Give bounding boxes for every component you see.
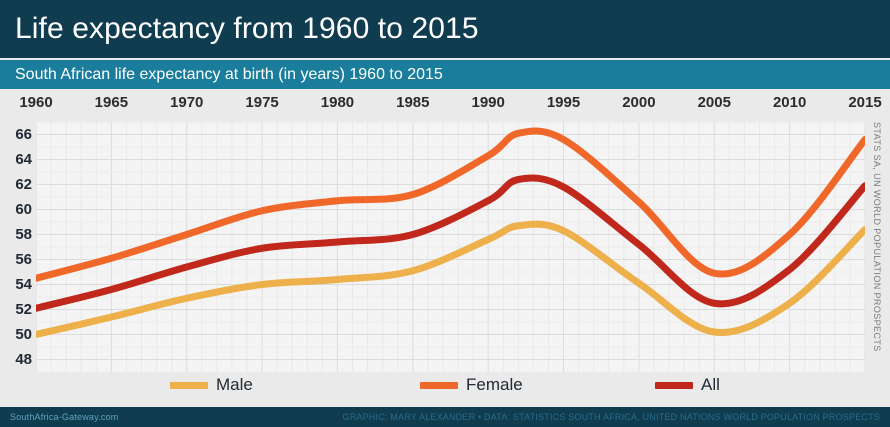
footer-credit: GRAPHIC: MARY ALEXANDER • DATA: STATISTI…: [343, 412, 881, 423]
legend-item-male[interactable]: Male: [170, 375, 253, 395]
x-tick-label: 2005: [698, 93, 731, 113]
chart-legend: MaleFemaleAll: [0, 375, 890, 405]
x-tick-label: 2015: [848, 93, 881, 113]
y-axis-labels: 48505254565860626466: [0, 89, 36, 405]
legend-swatch-male: [170, 382, 208, 389]
footer-site-link[interactable]: SouthAfrica-Gateway.com: [10, 412, 118, 423]
legend-label: All: [701, 375, 720, 395]
y-tick-label: 62: [15, 177, 32, 193]
source-note-text: STATS SA, UN WORLD POPULATION PROSPECTS: [872, 122, 882, 352]
x-tick-label: 1970: [170, 93, 203, 113]
x-tick-label: 1995: [547, 93, 580, 113]
x-tick-label: 2010: [773, 93, 806, 113]
legend-swatch-female: [420, 382, 458, 389]
y-tick-label: 64: [15, 152, 32, 168]
legend-swatch-all: [655, 382, 693, 389]
y-tick-label: 48: [15, 352, 32, 368]
source-note: STATS SA, UN WORLD POPULATION PROSPECTS: [866, 122, 888, 374]
infographic-root: Life expectancy from 1960 to 2015 South …: [0, 0, 890, 427]
x-axis-labels: 1960196519701975198019851990199520002005…: [0, 93, 890, 117]
legend-item-all[interactable]: All: [655, 375, 720, 395]
x-tick-label: 1980: [321, 93, 354, 113]
x-tick-label: 1985: [396, 93, 429, 113]
y-tick-label: 50: [15, 327, 32, 343]
legend-label: Male: [216, 375, 253, 395]
y-tick-label: 66: [15, 127, 32, 143]
y-tick-label: 56: [15, 252, 32, 268]
chart-subtitle: South African life expectancy at birth (…: [15, 66, 443, 84]
footer-bar: SouthAfrica-Gateway.com GRAPHIC: MARY AL…: [0, 407, 890, 427]
y-tick-label: 58: [15, 227, 32, 243]
legend-item-female[interactable]: Female: [420, 375, 523, 395]
y-tick-label: 54: [15, 277, 32, 293]
y-tick-label: 52: [15, 302, 32, 318]
x-tick-label: 1990: [471, 93, 504, 113]
legend-label: Female: [466, 375, 523, 395]
page-title: Life expectancy from 1960 to 2015: [15, 12, 479, 46]
chart-area: 1960196519701975198019851990199520002005…: [0, 89, 890, 405]
x-tick-label: 1975: [245, 93, 278, 113]
x-tick-label: 1965: [95, 93, 128, 113]
x-tick-label: 2000: [622, 93, 655, 113]
y-tick-label: 60: [15, 202, 32, 218]
subtitle-bar: South African life expectancy at birth (…: [0, 60, 890, 89]
plot-area: [36, 122, 865, 372]
line-chart-svg: [36, 122, 865, 372]
title-bar: Life expectancy from 1960 to 2015: [0, 0, 890, 58]
